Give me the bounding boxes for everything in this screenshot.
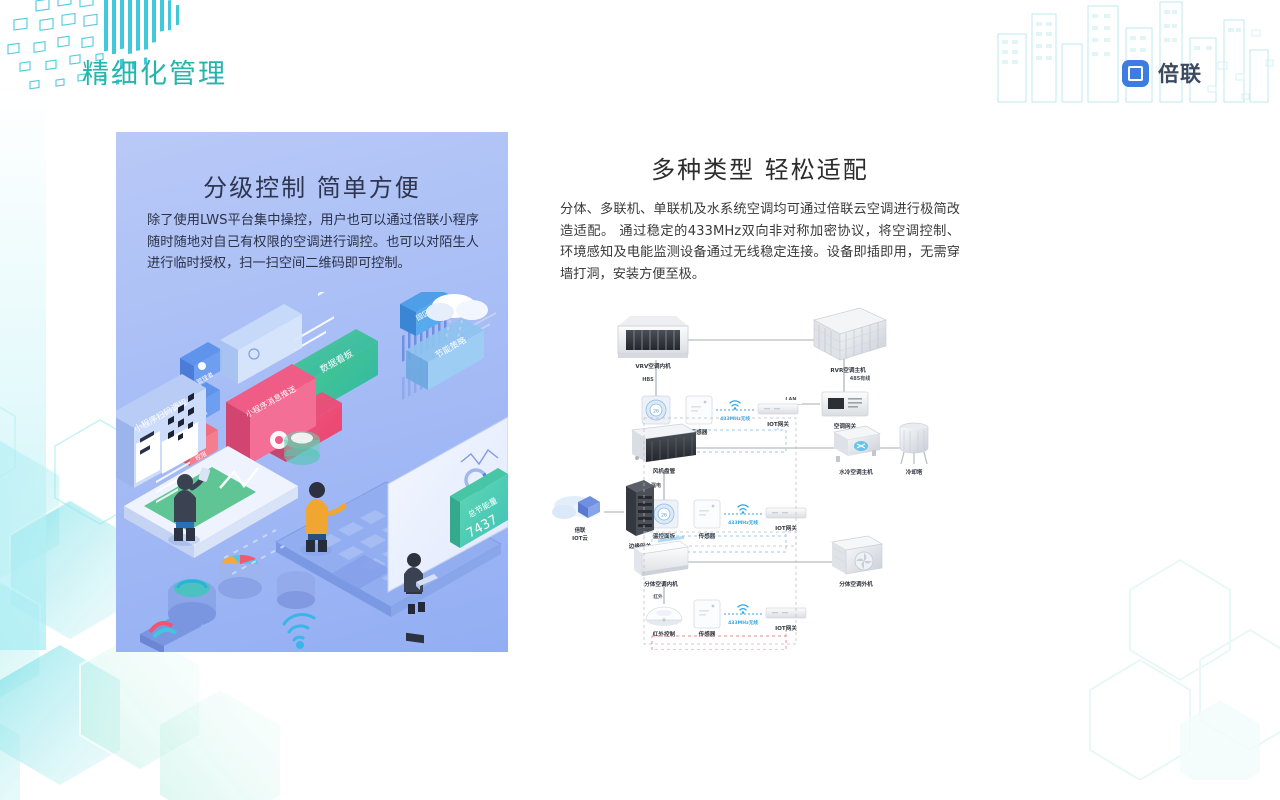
diagram-link-label-433-3: 433MHz无线 (728, 619, 758, 626)
page-title: 精细化管理 (82, 52, 227, 91)
hexagon-pattern-right-decoration-icon (1050, 520, 1280, 780)
diagram-link-label-ir: 红外 (653, 593, 663, 600)
left-edge-gradient (0, 90, 46, 650)
sensor-icon (686, 396, 712, 424)
diagram-label-sensor-3: 传感器 (698, 630, 716, 638)
brand-logo: 倍联 (1122, 58, 1202, 88)
diagram-label-cooling-tower: 冷却塔 (906, 468, 923, 476)
diagram-link-label-433-1: 433MHz无线 (720, 415, 750, 422)
svg-text:26: 26 (653, 409, 659, 415)
left-feature-card: 分级控制 简单方便 除了使用LWS平台集中操控，用户也可以通过倍联小程序随时随地… (116, 132, 508, 652)
brand-name: 倍联 (1158, 58, 1202, 88)
diagram-link-label-hbs: HBS (642, 377, 654, 383)
isometric-energy-platform-illustration: 数据看板 数据分析 节能策略 园区概览 (116, 292, 508, 652)
diagram-label-split-outdoor: 分体空调外机 (839, 580, 873, 588)
diagram-label-fcu: 风机盘管 (653, 467, 676, 475)
thermostat-panel-icon: 26 (650, 500, 678, 528)
diagram-label-split-indoor: 分体空调内机 (644, 580, 678, 588)
fan-coil-unit-icon (632, 424, 696, 462)
page-header: 精细化管理 倍联 (0, 0, 1280, 120)
water-chiller-icon (834, 426, 880, 462)
diagram-label-ir-controller: 红外控制 (653, 630, 676, 638)
diagram-label-vrv-outdoor: RVR空调主机 (830, 366, 866, 374)
wireless-link-1 (716, 401, 754, 410)
thermostat-panel-icon: 26 (642, 396, 670, 424)
ir-controller-icon (646, 607, 682, 626)
cloud-icon (552, 496, 600, 519)
wireless-link-2 (724, 505, 762, 514)
group-box-row3-inner (652, 636, 786, 650)
diagram-label-cloud-line1: 倍联 (574, 526, 586, 534)
rounded-square-logo-icon (1122, 60, 1149, 87)
split-ac-indoor-icon (634, 536, 688, 576)
cooling-tower-icon (900, 423, 928, 464)
ac-network-topology-diagram: VRV空调内机 RVR空调主机 HBS 485有线 LAN 26 温控面板 (548, 300, 948, 650)
cassette-ac-icon (618, 316, 688, 358)
diagram-label-vrv-indoor: VRV空调内机 (635, 362, 671, 370)
ac-chiller-icon (814, 308, 886, 360)
gateway-icon (758, 400, 802, 414)
right-panel-title: 多种类型 轻松适配 (560, 150, 960, 185)
svg-text:26: 26 (661, 513, 667, 519)
wireless-link-3 (724, 605, 762, 614)
diagram-link-label-485: 485有线 (850, 375, 870, 382)
sensor-icon (694, 600, 720, 628)
sensor-icon (694, 500, 720, 528)
gateway-icon (766, 504, 810, 518)
diagram-label-cloud-line2: IOT云 (572, 535, 588, 542)
diagram-link-label-433-2: 433MHz无线 (728, 519, 758, 526)
split-ac-outdoor-icon (832, 536, 882, 574)
right-panel-body: 分体、多联机、单联机及水系统空调均可通过倍联云空调进行极简改造适配。 通过稳定的… (560, 199, 960, 285)
left-card-body: 除了使用LWS平台集中操控，用户也可以通过倍联小程序随时随地对自己有权限的空调进… (147, 210, 479, 275)
server-rack-icon (626, 480, 654, 536)
diagram-label-water-chiller: 水冷空调主机 (838, 468, 873, 476)
ac-gateway-icon (822, 392, 868, 416)
gateway-icon (766, 604, 810, 618)
left-card-title: 分级控制 简单方便 (116, 168, 508, 203)
right-feature-block: 多种类型 轻松适配 分体、多联机、单联机及水系统空调均可通过倍联云空调进行极简改… (560, 150, 960, 285)
